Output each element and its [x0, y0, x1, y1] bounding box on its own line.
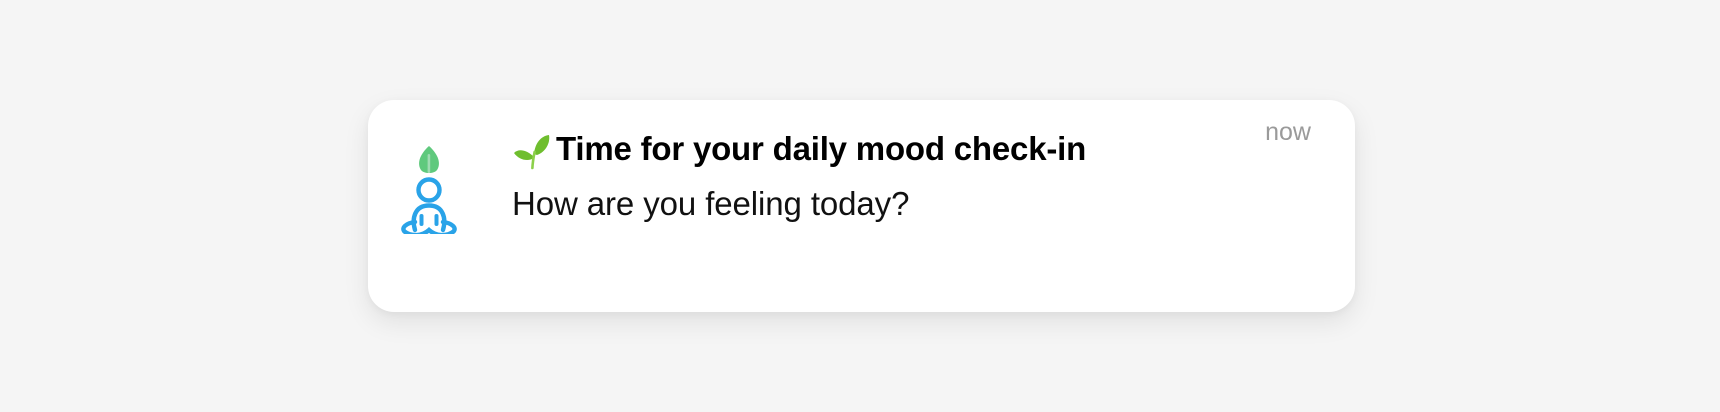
notification-message: How are you feeling today?: [512, 183, 1325, 226]
seedling-icon: [512, 132, 556, 170]
meditation-person-icon: [395, 142, 463, 234]
notification-card[interactable]: Time for your daily mood check-in How ar…: [368, 100, 1355, 312]
notification-screen: { "background_color": "#f5f5f5", "notifi…: [0, 0, 1720, 412]
notification-timestamp: now: [1265, 118, 1311, 147]
notification-title: Time for your daily mood check-in: [512, 128, 1325, 170]
notification-title-label: Time for your daily mood check-in: [556, 128, 1086, 170]
notification-content: Time for your daily mood check-in How ar…: [512, 128, 1325, 225]
